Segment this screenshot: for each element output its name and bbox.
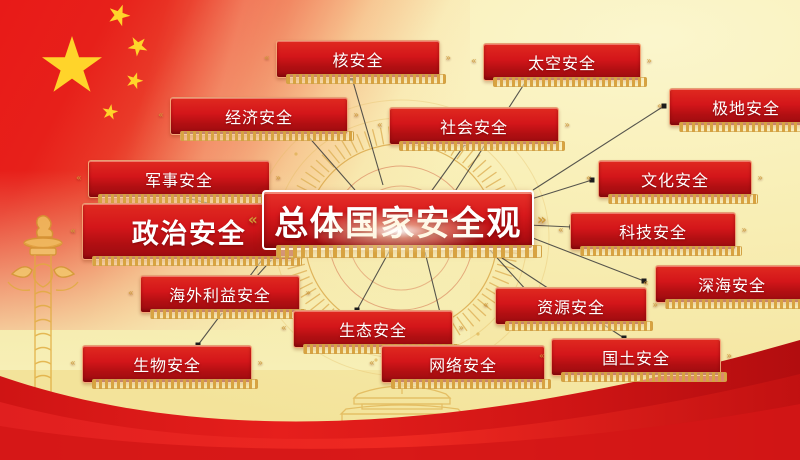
security-node-resource[interactable]: «资源安全 — [495, 287, 647, 325]
center-title-text: 总体国家安全观 — [274, 196, 522, 245]
security-node-label: 网络安全 — [429, 352, 497, 376]
security-node-label: 极地安全 — [712, 95, 780, 119]
center-title-card: « 总体国家安全观 » — [262, 190, 534, 250]
node-chevron-left-icon: « — [586, 175, 592, 184]
security-node-label: 生态安全 — [339, 317, 407, 341]
security-node-space[interactable]: «太空安全 — [483, 43, 641, 81]
node-chevron-left-icon: « — [158, 112, 164, 121]
node-chevron-left-icon: « — [281, 325, 287, 334]
security-node-social[interactable]: «社会安全 — [389, 107, 559, 145]
node-chevron-left-icon: « — [70, 360, 76, 369]
security-node-ecology[interactable]: «生态安全 — [293, 310, 453, 348]
security-node-label: 社会安全 — [440, 114, 508, 138]
node-chevron-left-icon: « — [264, 55, 270, 64]
node-chevron-left-icon: « — [483, 302, 489, 311]
node-chevron-left-icon: « — [70, 227, 77, 236]
security-node-label: 经济安全 — [225, 104, 293, 128]
node-chevron-left-icon: « — [377, 122, 383, 131]
security-node-tech[interactable]: «科技安全 — [570, 212, 736, 250]
center-chevron-right-icon: » — [537, 213, 548, 228]
node-chevron-left-icon: « — [558, 227, 564, 236]
node-chevron-left-icon: « — [471, 58, 477, 67]
security-node-territory[interactable]: «国土安全 — [551, 338, 721, 376]
security-node-cyber[interactable]: «网络安全 — [381, 345, 545, 383]
node-chevron-left-icon: « — [539, 353, 545, 362]
poster-canvas: « 总体国家安全观 » «核安全«太空安全«经济安全«社会安全«极地安全«军事安… — [0, 0, 800, 460]
security-node-cultural[interactable]: «文化安全 — [598, 160, 752, 198]
security-node-label: 科技安全 — [619, 219, 687, 243]
node-chevron-left-icon: « — [369, 360, 375, 369]
security-node-military[interactable]: «军事安全 — [88, 160, 270, 198]
security-node-label: 深海安全 — [698, 272, 766, 296]
security-node-label: 政治安全 — [132, 212, 246, 251]
security-node-polar[interactable]: «极地安全 — [669, 88, 800, 126]
node-chevron-left-icon: « — [128, 290, 134, 299]
security-node-overseas[interactable]: «海外利益安全 — [140, 275, 300, 313]
security-node-economic[interactable]: «经济安全 — [170, 97, 348, 135]
security-node-label: 军事安全 — [145, 167, 213, 191]
security-node-label: 核安全 — [333, 47, 384, 71]
center-chevron-left-icon: « — [248, 213, 259, 228]
node-chevron-left-icon: « — [657, 103, 663, 112]
security-node-label: 生物安全 — [133, 352, 201, 376]
security-node-nuclear[interactable]: «核安全 — [276, 40, 440, 78]
security-node-biology[interactable]: «生物安全 — [82, 345, 252, 383]
node-chevron-left-icon: « — [76, 175, 82, 184]
security-node-deepsea[interactable]: «深海安全 — [655, 265, 800, 303]
security-node-label: 文化安全 — [641, 167, 709, 191]
security-node-label: 资源安全 — [537, 294, 605, 318]
security-node-label: 海外利益安全 — [169, 282, 271, 306]
security-node-label: 太空安全 — [528, 50, 596, 74]
security-node-label: 国土安全 — [602, 345, 670, 369]
